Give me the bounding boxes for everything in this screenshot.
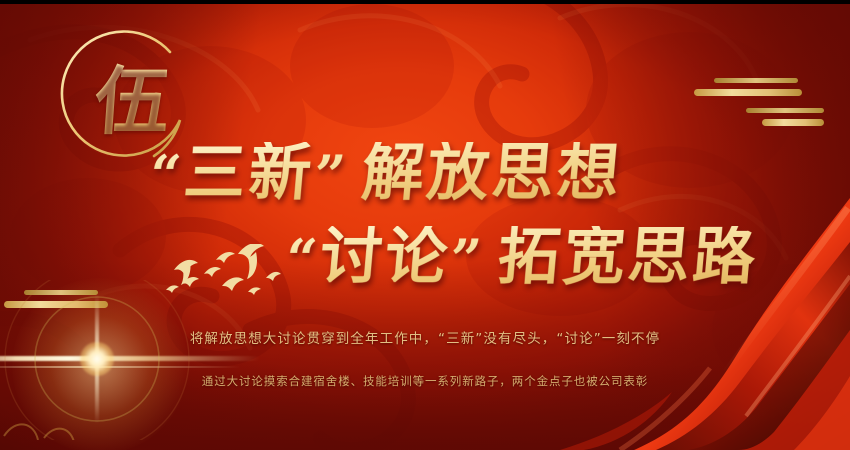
headline-line-1: “三新”解放思想: [147, 142, 625, 204]
top-black-bar: [0, 0, 850, 4]
headline-line-1-rest: 解放思想: [345, 136, 625, 209]
poster-canvas: 伍 “三新”解放思想 “讨论”拓宽思路 将解放思想大讨论贯穿到全年工作中，“三新…: [0, 0, 850, 450]
headline-line-2-keyword: 讨论: [317, 220, 453, 293]
subtitle-line-2: 通过大讨论摸索合建宿舍楼、技能培训等一系列新路子，两个金点子也被公司表彰: [0, 369, 850, 393]
flying-birds-icon: [160, 244, 290, 312]
subtitle-block: 将解放思想大讨论贯穿到全年工作中，“三新”没有尽头，“讨论”一刻不停 通过大讨论…: [0, 326, 850, 393]
headline-line-1-open-quote: “: [147, 143, 187, 207]
headline-block: “三新”解放思想 “讨论”拓宽思路: [0, 126, 850, 326]
headline-line-1-keyword: 三新: [181, 136, 317, 209]
headline-line-2-rest: 拓宽思路: [481, 220, 761, 293]
headline-line-2: “讨论”拓宽思路: [283, 226, 761, 288]
subtitle-line-1: 将解放思想大讨论贯穿到全年工作中，“三新”没有尽头，“讨论”一刻不停: [0, 326, 850, 352]
